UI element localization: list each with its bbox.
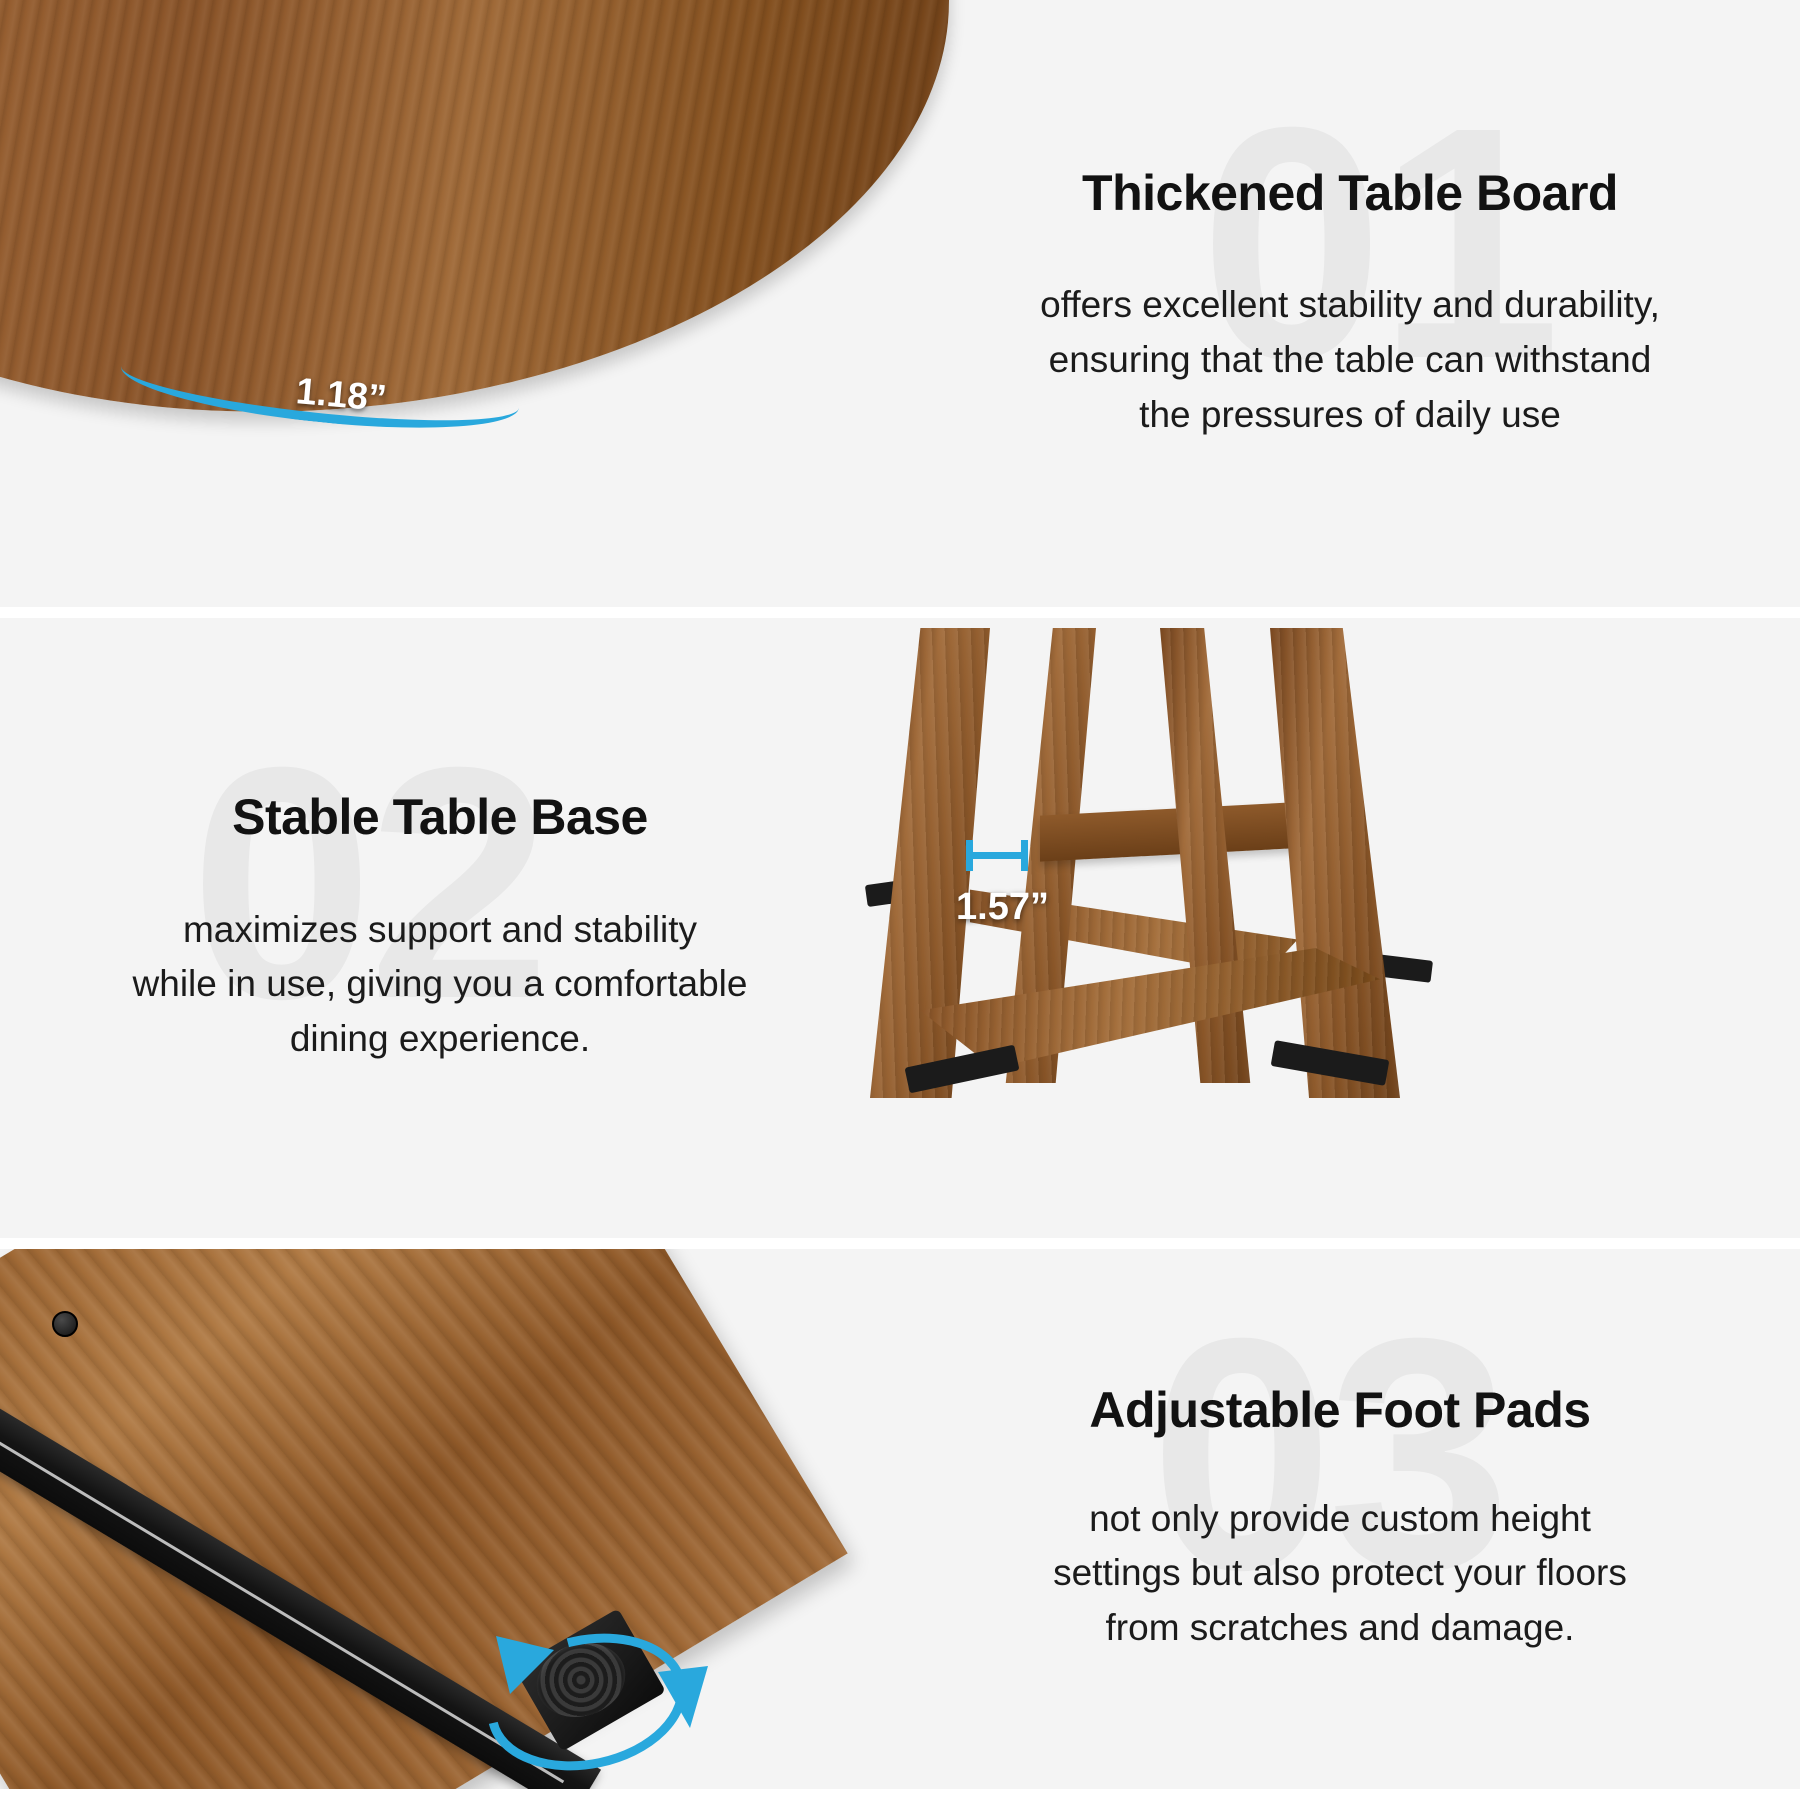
table-leg — [196, 430, 301, 607]
body-line: ensuring that the table can withstand — [1040, 333, 1660, 388]
dimension-end-cap — [1021, 840, 1028, 871]
body-line: maximizes support and stability — [133, 903, 748, 958]
table-base-photo: 1.57” — [860, 618, 1800, 1238]
body-line: from scratches and damage. — [1053, 1601, 1627, 1656]
feature-panel-03: 03 Adjustable Foot Pads not only provide… — [0, 1249, 1800, 1789]
dimension-bar — [966, 852, 1028, 859]
feature-text-03: 03 Adjustable Foot Pads not only provide… — [880, 1249, 1800, 1789]
panel-headline-01: Thickened Table Board — [1082, 165, 1618, 223]
panel-divider — [0, 1238, 1800, 1249]
panel-headline-03: Adjustable Foot Pads — [1089, 1382, 1590, 1440]
tabletop-edge-photo: 1.18” — [0, 0, 1000, 607]
foot-pad-photo — [0, 1249, 900, 1789]
body-line: dining experience. — [133, 1012, 748, 1067]
feature-panel-02: 02 Stable Table Base maximizes support a… — [0, 618, 1800, 1238]
body-line: not only provide custom height — [1053, 1492, 1627, 1547]
feature-text-01: 01 Thickened Table Board offers excellen… — [900, 0, 1800, 607]
panel-headline-02: Stable Table Base — [232, 789, 648, 847]
body-line: settings but also protect your floors — [1053, 1546, 1627, 1601]
table-leg — [4, 430, 82, 607]
feature-panel-01: 1.18” 01 Thickened Table Board offers ex… — [0, 0, 1800, 607]
body-line: the pressures of daily use — [1040, 388, 1660, 443]
base-leg — [1270, 628, 1400, 1098]
width-dimension-label: 1.57” — [956, 886, 1049, 929]
body-line: while in use, giving you a comfortable — [133, 957, 748, 1012]
thickness-dimension-label: 1.18” — [294, 370, 388, 420]
product-feature-infographic: 1.18” 01 Thickened Table Board offers ex… — [0, 0, 1800, 1800]
feature-text-02: 02 Stable Table Base maximizes support a… — [0, 618, 880, 1238]
panel-body-02: maximizes support and stability while in… — [133, 903, 748, 1067]
screw-head — [52, 1311, 78, 1337]
panel-divider — [0, 607, 1800, 618]
body-line: offers excellent stability and durabilit… — [1040, 278, 1660, 333]
panel-body-01: offers excellent stability and durabilit… — [1040, 278, 1660, 442]
table-leg — [111, 440, 167, 607]
panel-body-03: not only provide custom height settings … — [1053, 1492, 1627, 1656]
